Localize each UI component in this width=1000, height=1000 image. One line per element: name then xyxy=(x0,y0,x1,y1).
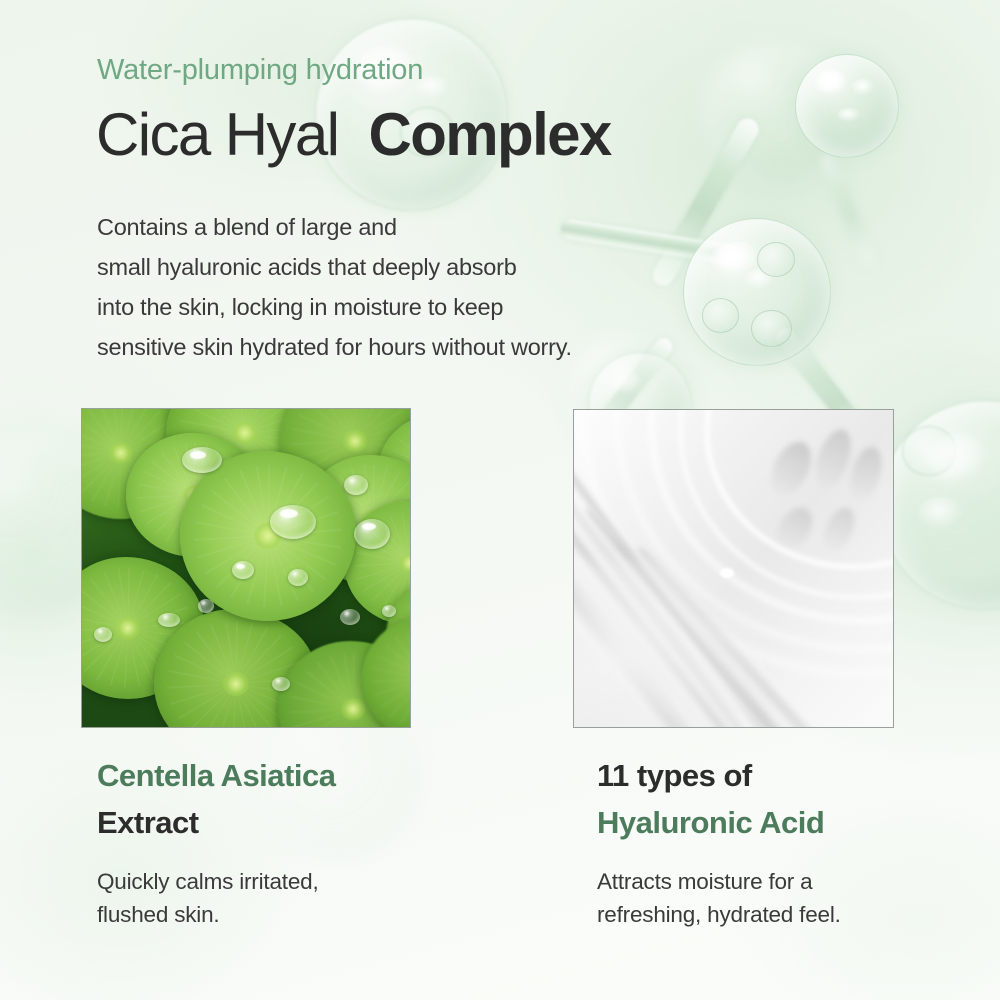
water-droplet xyxy=(198,599,214,613)
droplet-highlight xyxy=(280,509,298,518)
intro-line-3: into the skin, locking in moisture to ke… xyxy=(97,287,572,327)
product-infographic: Water-plumping hydration Cica Hyal Compl… xyxy=(0,0,1000,1000)
water-calm-area xyxy=(573,560,774,728)
page-title-light: Cica Hyal xyxy=(96,101,338,168)
centella-caption: Centella Asiatica Extract Quickly calms … xyxy=(97,752,335,931)
centella-heading-green: Centella Asiatica xyxy=(97,752,335,799)
water-droplet xyxy=(272,677,290,691)
page-title-bold: Complex xyxy=(368,101,610,168)
water-droplet xyxy=(382,605,396,617)
page-title: Cica Hyal Complex xyxy=(96,105,611,165)
water-droplet xyxy=(288,569,308,586)
intro-line-1: Contains a blend of large and xyxy=(97,207,572,247)
water-droplet xyxy=(158,613,180,627)
droplet-highlight xyxy=(190,451,206,459)
leaf-hero xyxy=(180,451,356,621)
centella-description: Quickly calms irritated, flushed skin. xyxy=(97,865,335,931)
hyaluronic-heading-dark: 11 types of xyxy=(597,752,841,799)
water-droplet xyxy=(344,475,368,495)
intro-line-4: sensitive skin hydrated for hours withou… xyxy=(97,327,572,367)
hyaluronic-description-line-2: refreshing, hydrated feel. xyxy=(597,898,841,931)
droplet-highlight xyxy=(236,564,245,569)
centella-description-line-2: flushed skin. xyxy=(97,898,335,931)
hyaluronic-description-line-1: Attracts moisture for a xyxy=(597,865,841,898)
water-sparkle xyxy=(720,568,734,578)
hyaluronic-caption: 11 types of Hyaluronic Acid Attracts moi… xyxy=(597,752,841,931)
centella-description-line-1: Quickly calms irritated, xyxy=(97,865,335,898)
hyaluronic-heading-green: Hyaluronic Acid xyxy=(597,799,841,846)
centella-heading-dark: Extract xyxy=(97,799,335,846)
water-droplet xyxy=(94,627,112,642)
hyaluronic-description: Attracts moisture for a refreshing, hydr… xyxy=(597,865,841,931)
centella-image-panel xyxy=(81,408,411,728)
water-droplet xyxy=(340,609,360,625)
intro-line-2: small hyaluronic acids that deeply absor… xyxy=(97,247,572,287)
intro-paragraph: Contains a blend of large and small hyal… xyxy=(97,207,572,367)
eyebrow-text: Water-plumping hydration xyxy=(97,54,423,87)
water-image-panel xyxy=(573,409,894,728)
droplet-highlight xyxy=(362,523,376,530)
